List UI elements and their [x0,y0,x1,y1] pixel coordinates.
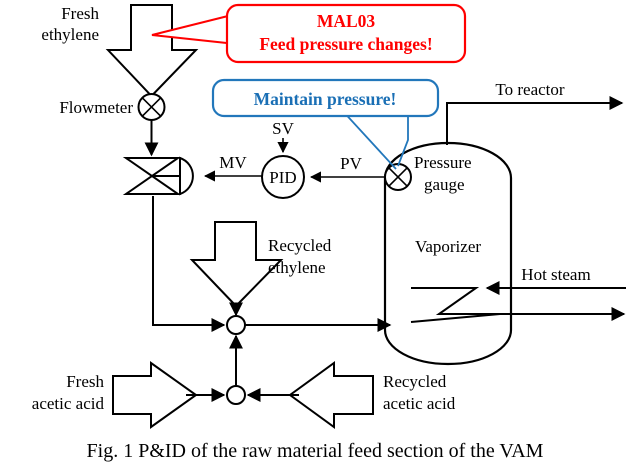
pressure-gauge-symbol [385,164,411,190]
hot-steam-label: Hot steam [521,265,590,284]
control-valve-symbol [126,158,193,194]
fresh-ethylene-label-line2: ethylene [41,25,99,44]
to-reactor-label: To reactor [495,80,564,99]
recycled-acetic-acid-feed [290,363,373,427]
fresh-acetic-acid-feed [113,363,196,427]
pv-label: PV [340,154,362,173]
figure-caption: Fig. 1 P&ID of the raw material feed sec… [87,440,544,462]
to-reactor-line [447,103,622,145]
mix-junction-lower [227,386,245,404]
sv-label: SV [272,119,294,138]
control-callout-message: Maintain pressure! [254,89,397,109]
mix-junction-upper [227,316,245,334]
fresh-ethylene-feed [108,5,196,96]
vaporizer-label: Vaporizer [415,237,481,256]
pressure-gauge-label-line2: gauge [424,175,465,194]
recycled-acetic-acid-label-line2: acetic acid [383,394,456,413]
pid-diagram: Fresh ethylene Flowmeter MV PID SV [0,0,630,466]
fresh-acetic-acid-label-line1: Fresh [66,372,104,391]
pid-label: PID [269,168,296,187]
fault-callout-message: Feed pressure changes! [259,34,432,54]
fresh-ethylene-label-line1: Fresh [61,4,99,23]
mv-label: MV [219,153,247,172]
flowmeter-label: Flowmeter [59,98,133,117]
flowmeter-symbol [139,94,165,120]
fresh-acetic-acid-label-line2: acetic acid [32,394,105,413]
fault-callout-title: MAL03 [317,11,376,31]
pressure-gauge-label-line1: Pressure [414,153,472,172]
recycled-acetic-acid-label-line1: Recycled [383,372,447,391]
recycled-ethylene-label-line1: Recycled [268,236,332,255]
recycled-ethylene-label-line2: ethylene [268,258,326,277]
